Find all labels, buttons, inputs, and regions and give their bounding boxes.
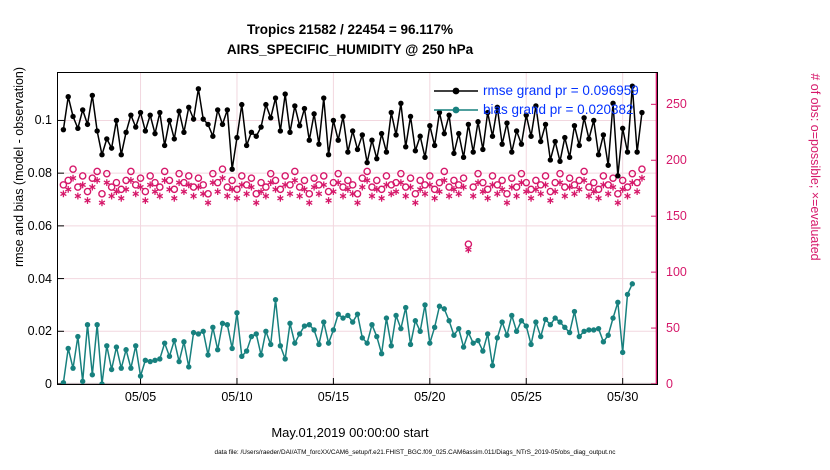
x-axis-caption: May.01,2019 00:00:00 start [0,425,700,440]
legend-item-0: rmse grand pr = 0.096959 [433,81,639,100]
legend-swatch-1 [433,103,479,117]
x-tick-05-25: 05/25 [511,390,542,404]
legend-label-0: rmse grand pr = 0.096959 [483,83,639,98]
x-tick-05-30: 05/30 [607,390,638,404]
right-tick-150: 150 [666,209,714,223]
plot-canvas [58,73,657,384]
right-tick-100: 100 [666,265,714,279]
x-tick-05-15: 05/15 [318,390,349,404]
left-tick-0: 0 [4,377,52,391]
x-tick-05-10: 05/10 [221,390,252,404]
legend-swatch-0 [433,84,479,98]
right-tick-250: 250 [666,97,714,111]
left-axis-title: rmse and bias (model - observation) [12,2,26,332]
chart-page: Tropics 21582 / 22454 = 96.117% AIRS_SPE… [0,0,830,470]
right-tick-200: 200 [666,153,714,167]
legend: rmse grand pr = 0.096959bias grand pr = … [433,81,639,119]
x-tick-05-05: 05/05 [125,390,156,404]
data-file-caption: data file: /Users/raeder/DAI/ATM_forcXX/… [0,449,830,456]
legend-label-1: bias grand pr = 0.020382 [483,102,634,117]
right-tick-50: 50 [666,321,714,335]
right-tick-0: 0 [666,377,714,391]
legend-item-1: bias grand pr = 0.020382 [433,100,639,119]
x-tick-05-20: 05/20 [414,390,445,404]
chart-title-line1: Tropics 21582 / 22454 = 96.117% [0,22,700,37]
chart-title-line2: AIRS_SPECIFIC_HUMIDITY @ 250 hPa [0,42,700,57]
right-axis-title: # of obs: o=possible; ×=evaluated [808,2,822,332]
